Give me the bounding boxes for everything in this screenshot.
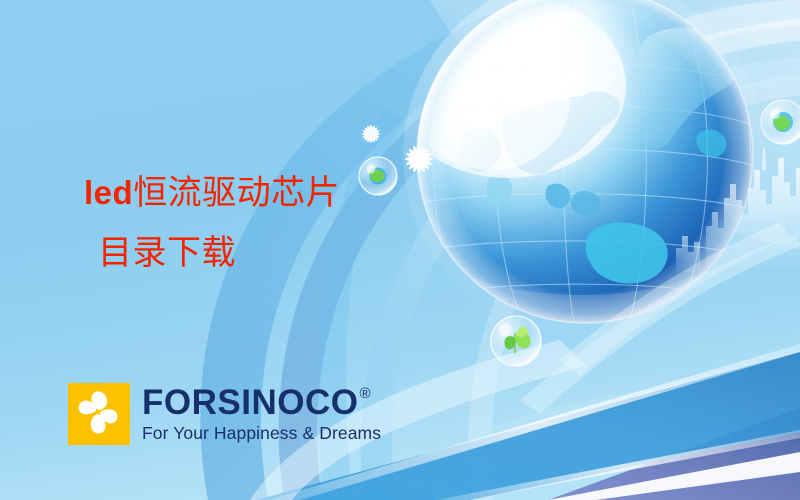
sparkle-flower-large [405, 145, 433, 173]
brand-tagline: For Your Happiness & Dreams [142, 425, 381, 443]
bubble-globe-edge-highlight [770, 109, 780, 119]
bubble-globe-small [359, 157, 397, 195]
forsinoco-logo-mark [68, 383, 130, 445]
brand-wordmark: FORSINOCO ® For Your Happiness & Dreams [142, 385, 381, 443]
brand-name: FORSINOCO [142, 385, 358, 420]
registered-trademark-icon: ® [359, 386, 371, 401]
pinwheel-petals-icon [68, 383, 130, 445]
bubble-sprout-highlight [499, 324, 512, 337]
brand-logo: FORSINOCO ® For Your Happiness & Dreams [68, 383, 381, 445]
bubble-sprout [491, 316, 541, 366]
brand-name-row: FORSINOCO ® [142, 385, 381, 420]
sparkle-flower-small [362, 125, 380, 143]
bubble-globe-small-highlight [367, 165, 376, 174]
bubble-globe-edge [761, 100, 800, 144]
banner-canvas: led恒流驱动芯片 目录下载 FORSINOCO ® For Your Happ… [0, 0, 800, 500]
